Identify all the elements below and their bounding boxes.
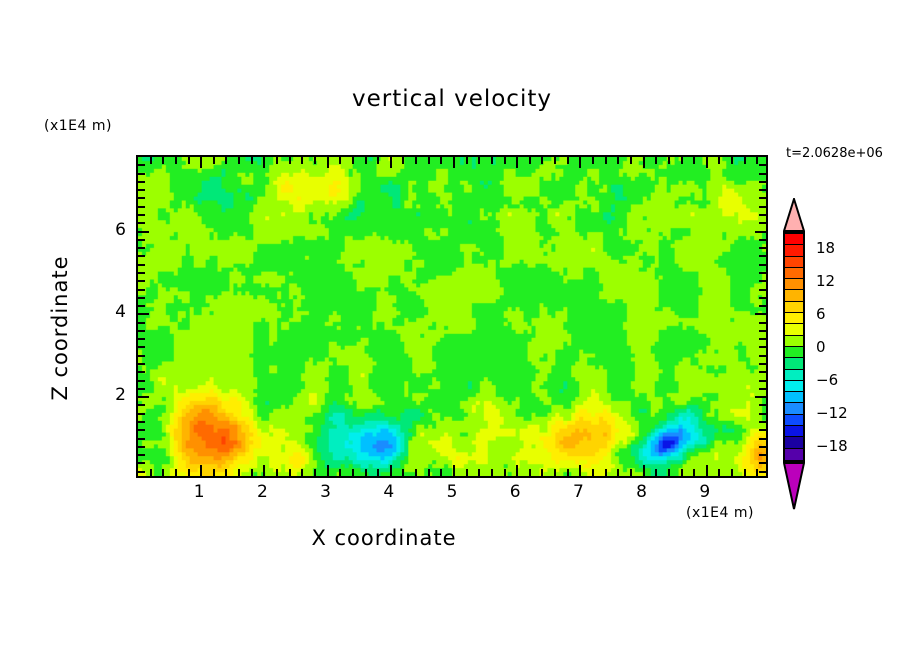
tick-mark [415, 157, 417, 164]
tick-mark [314, 469, 316, 476]
tick-mark [554, 157, 556, 164]
tick-mark [759, 181, 766, 183]
tick-mark [759, 355, 766, 357]
tick-mark [759, 388, 766, 390]
tick-mark [759, 413, 766, 415]
tick-mark [744, 157, 746, 164]
tick-mark [759, 363, 766, 365]
tick-mark [668, 469, 670, 476]
tick-mark [138, 413, 145, 415]
tick-mark [390, 157, 392, 168]
tick-mark [759, 404, 766, 406]
x-tick-label: 1 [194, 482, 205, 502]
x-axis-unit-label: (x1E4 m) [686, 505, 754, 521]
x-tick-label: 9 [699, 482, 710, 502]
tick-mark [263, 465, 265, 476]
tick-mark [138, 454, 145, 456]
colorbar-band [785, 426, 803, 437]
tick-mark [327, 465, 329, 476]
tick-mark [759, 206, 766, 208]
tick-mark [630, 469, 632, 476]
tick-mark [276, 469, 278, 476]
tick-mark [759, 429, 766, 431]
y-axis-title: Z coordinate [48, 238, 72, 418]
tick-mark [138, 429, 145, 431]
tick-mark [138, 297, 145, 299]
tick-mark [428, 469, 430, 476]
tick-mark [138, 371, 145, 373]
tick-mark [567, 157, 569, 164]
tick-mark [138, 355, 145, 357]
tick-mark [759, 173, 766, 175]
colorbar [783, 232, 805, 462]
tick-mark [478, 157, 480, 164]
tick-mark [541, 157, 543, 164]
colorbar-band [785, 234, 803, 245]
tick-mark [731, 157, 733, 164]
tick-mark [339, 469, 341, 476]
tick-mark [138, 338, 145, 340]
tick-mark [138, 421, 145, 423]
tick-mark [138, 322, 145, 324]
tick-mark [138, 164, 145, 166]
tick-mark [516, 157, 518, 168]
tick-mark [301, 157, 303, 164]
colorbar-band [785, 415, 803, 426]
tick-mark [681, 469, 683, 476]
tick-mark [352, 157, 354, 164]
tick-mark [138, 231, 149, 233]
tick-mark [138, 330, 145, 332]
x-tick-label: 2 [257, 482, 268, 502]
tick-mark [138, 313, 149, 315]
tick-mark [759, 222, 766, 224]
tick-mark [759, 305, 766, 307]
tick-mark [759, 297, 766, 299]
tick-mark [138, 289, 145, 291]
tick-mark [731, 469, 733, 476]
colorbar-over-range-arrow [783, 198, 805, 232]
tick-mark [643, 465, 645, 476]
tick-mark [289, 469, 291, 476]
colorbar-band [785, 257, 803, 268]
tick-mark [314, 157, 316, 164]
tick-mark [759, 189, 766, 191]
tick-mark [225, 157, 227, 164]
tick-mark [200, 465, 202, 476]
tick-mark [759, 338, 766, 340]
tick-mark [759, 197, 766, 199]
tick-mark [251, 157, 253, 164]
tick-mark [579, 157, 581, 168]
tick-mark [453, 157, 455, 168]
colorbar-band [785, 403, 803, 414]
colorbar-band [785, 381, 803, 392]
page-title: vertical velocity [0, 86, 904, 112]
tick-mark [681, 157, 683, 164]
colorbar-tick-label: 12 [816, 272, 835, 290]
tick-mark [759, 380, 766, 382]
tick-mark [504, 157, 506, 164]
tick-mark [327, 157, 329, 168]
tick-mark [453, 465, 455, 476]
colorbar-tick-label: 18 [816, 239, 835, 257]
y-tick-label: 4 [100, 302, 126, 322]
tick-mark [655, 157, 657, 164]
tick-mark [759, 164, 766, 166]
colorbar-band [785, 347, 803, 358]
tick-mark [200, 157, 202, 168]
tick-mark [541, 469, 543, 476]
x-tick-label: 6 [510, 482, 521, 502]
tick-mark [759, 272, 766, 274]
tick-mark [138, 438, 145, 440]
tick-mark [617, 469, 619, 476]
colorbar-band [785, 268, 803, 279]
x-tick-label: 3 [320, 482, 331, 502]
colorbar-tick-label: −12 [816, 404, 848, 422]
tick-mark [755, 396, 766, 398]
colorbar-band [785, 392, 803, 403]
tick-mark [138, 247, 145, 249]
tick-mark [759, 255, 766, 257]
tick-mark [466, 157, 468, 164]
tick-mark [339, 157, 341, 164]
tick-mark [504, 469, 506, 476]
tick-mark [491, 157, 493, 164]
tick-mark [213, 469, 215, 476]
colorbar-band [785, 313, 803, 324]
tick-mark [276, 157, 278, 164]
tick-mark [402, 469, 404, 476]
y-tick-label: 2 [100, 385, 126, 405]
colorbar-band [785, 370, 803, 381]
tick-mark [213, 157, 215, 164]
tick-mark [529, 157, 531, 164]
tick-mark [755, 313, 766, 315]
y-tick-label: 6 [100, 220, 126, 240]
tick-mark [138, 173, 145, 175]
tick-mark [592, 469, 594, 476]
tick-mark [138, 239, 145, 241]
tick-mark [516, 465, 518, 476]
tick-mark [138, 214, 145, 216]
tick-mark [759, 346, 766, 348]
tick-mark [175, 469, 177, 476]
tick-mark [175, 157, 177, 164]
x-tick-label: 4 [383, 482, 394, 502]
tick-mark [630, 157, 632, 164]
tick-mark [693, 469, 695, 476]
colorbar-band [785, 358, 803, 369]
tick-mark [567, 469, 569, 476]
tick-mark [138, 346, 145, 348]
colorbar-band [785, 245, 803, 256]
tick-mark [718, 469, 720, 476]
tick-mark [478, 469, 480, 476]
tick-mark [263, 157, 265, 168]
tick-mark [643, 157, 645, 168]
tick-mark [138, 380, 145, 382]
tick-mark [759, 471, 766, 473]
y-axis-unit-label: (x1E4 m) [44, 118, 112, 134]
tick-mark [668, 157, 670, 164]
tick-mark [138, 206, 145, 208]
tick-mark [491, 469, 493, 476]
tick-mark [390, 465, 392, 476]
tick-mark [466, 469, 468, 476]
tick-mark [693, 157, 695, 164]
tick-mark [138, 388, 145, 390]
tick-mark [238, 157, 240, 164]
tick-mark [138, 272, 145, 274]
colorbar-tick-label: 6 [816, 305, 826, 323]
tick-mark [162, 469, 164, 476]
tick-mark [655, 469, 657, 476]
tick-mark [138, 280, 145, 282]
tick-mark [605, 469, 607, 476]
tick-mark [138, 446, 145, 448]
tick-mark [138, 305, 145, 307]
tick-mark [289, 157, 291, 164]
tick-mark [759, 214, 766, 216]
tick-mark [377, 157, 379, 164]
tick-mark [402, 157, 404, 164]
tick-mark [188, 469, 190, 476]
colorbar-band [785, 336, 803, 347]
tick-mark [440, 469, 442, 476]
contour-plot-area [136, 155, 768, 478]
tick-mark [759, 330, 766, 332]
tick-mark [138, 222, 145, 224]
tick-mark [759, 454, 766, 456]
tick-mark [617, 157, 619, 164]
tick-mark [592, 157, 594, 164]
colorbar-under-range-arrow [783, 462, 805, 510]
tick-mark [759, 421, 766, 423]
tick-mark [605, 157, 607, 164]
tick-mark [162, 157, 164, 164]
x-axis-title: X coordinate [0, 526, 768, 550]
tick-mark [756, 157, 758, 164]
tick-mark [138, 462, 145, 464]
colorbar-band [785, 279, 803, 290]
tick-mark [579, 465, 581, 476]
tick-mark [138, 189, 145, 191]
tick-mark [301, 469, 303, 476]
tick-mark [554, 469, 556, 476]
tick-mark [759, 371, 766, 373]
x-tick-label: 5 [447, 482, 458, 502]
tick-mark [718, 157, 720, 164]
timestamp-annotation: t=2.0628e+06 [786, 146, 883, 161]
tick-mark [377, 469, 379, 476]
colorbar-tick-label: −6 [816, 371, 838, 389]
tick-mark [759, 322, 766, 324]
tick-mark [138, 255, 145, 257]
tick-mark [138, 363, 145, 365]
tick-mark [225, 469, 227, 476]
tick-mark [759, 446, 766, 448]
tick-mark [365, 469, 367, 476]
tick-mark [238, 469, 240, 476]
tick-mark [138, 471, 145, 473]
tick-mark [706, 157, 708, 168]
tick-mark [188, 157, 190, 164]
x-tick-label: 8 [636, 482, 647, 502]
tick-mark [365, 157, 367, 164]
tick-mark [759, 462, 766, 464]
tick-mark [150, 157, 152, 164]
colorbar-tick-label: 0 [816, 338, 826, 356]
tick-mark [150, 469, 152, 476]
colorbar-tick-label: −18 [816, 437, 848, 455]
colorbar-band [785, 449, 803, 460]
tick-mark [138, 264, 145, 266]
tick-mark [251, 469, 253, 476]
colorbar-band [785, 437, 803, 448]
tick-mark [759, 438, 766, 440]
tick-mark [138, 181, 145, 183]
tick-mark [759, 247, 766, 249]
tick-mark [415, 469, 417, 476]
vertical-velocity-field [138, 157, 766, 476]
colorbar-band [785, 324, 803, 335]
tick-mark [440, 157, 442, 164]
tick-mark [428, 157, 430, 164]
tick-mark [138, 197, 145, 199]
tick-mark [138, 396, 149, 398]
tick-mark [759, 289, 766, 291]
tick-mark [352, 469, 354, 476]
colorbar-band [785, 302, 803, 313]
tick-mark [529, 469, 531, 476]
colorbar-band [785, 290, 803, 301]
tick-mark [744, 469, 746, 476]
tick-mark [706, 465, 708, 476]
x-tick-label: 7 [573, 482, 584, 502]
tick-mark [755, 231, 766, 233]
tick-mark [759, 264, 766, 266]
tick-mark [759, 239, 766, 241]
tick-mark [759, 280, 766, 282]
tick-mark [138, 404, 145, 406]
